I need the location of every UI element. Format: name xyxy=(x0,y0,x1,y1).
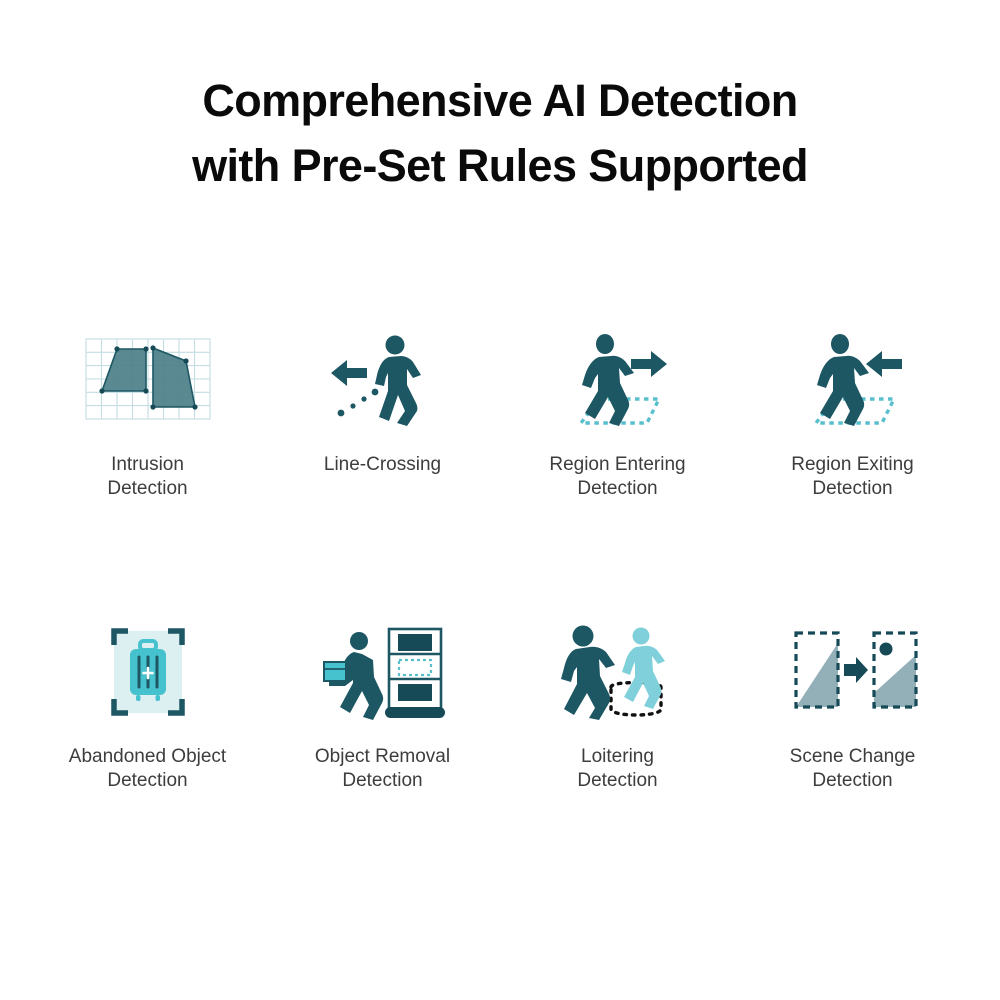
ghost-person-glyph xyxy=(622,627,665,709)
scene-after-frame xyxy=(874,633,916,707)
poster-root: Comprehensive AI Detection with Pre-Set … xyxy=(0,0,1000,1000)
feature-abandoned-object-detection: Abandoned Object Detection xyxy=(40,617,255,794)
arrow-right-glyph xyxy=(631,351,667,377)
new-object-dot xyxy=(879,642,892,655)
arrow-left-glyph xyxy=(866,351,902,377)
walking-person-glyph xyxy=(561,625,615,720)
line-crossing-walker-arrow-icon xyxy=(323,333,443,428)
feature-object-removal-detection: Object Removal Detection xyxy=(275,617,490,794)
person-carrying-box-glyph xyxy=(324,632,383,720)
feature-row-2: Abandoned Object Detection xyxy=(40,617,960,794)
arrow-right-glyph xyxy=(844,657,868,683)
arrow-left-glyph xyxy=(331,360,367,386)
feature-row-1: Intrusion Detection xyxy=(40,325,960,502)
shelf-rack-glyph xyxy=(385,629,445,718)
feature-label: Region Entering Detection xyxy=(549,453,685,502)
icon-container xyxy=(275,325,490,435)
shelf-box-top xyxy=(398,634,432,651)
feature-scene-change-detection: Scene Change Detection xyxy=(745,617,960,794)
feature-intrusion-detection: Intrusion Detection xyxy=(40,325,255,502)
feature-region-entering-detection: Region Entering Detection xyxy=(510,325,725,502)
title-line-1: Comprehensive AI Detection xyxy=(0,68,1000,133)
intrusion-grid-polygons-icon xyxy=(83,333,213,428)
shelf-box-bottom xyxy=(398,684,432,701)
feature-label: Region Exiting Detection xyxy=(791,453,914,502)
page-title: Comprehensive AI Detection with Pre-Set … xyxy=(0,68,1000,199)
feature-loitering-detection: Loitering Detection xyxy=(510,617,725,794)
feature-label: Scene Change Detection xyxy=(790,745,916,794)
removed-item-outline xyxy=(399,660,431,675)
feature-label: Object Removal Detection xyxy=(315,745,450,794)
scene-before-frame xyxy=(796,633,838,707)
object-removal-shelf-icon xyxy=(315,623,450,721)
loitering-two-figures-icon xyxy=(555,623,680,721)
suitcase-glyph xyxy=(130,641,166,701)
running-person-glyph xyxy=(582,334,634,426)
shelf-base xyxy=(385,707,445,718)
feature-label: Line-Crossing xyxy=(324,453,441,477)
icon-container xyxy=(745,325,960,435)
feature-label: Intrusion Detection xyxy=(107,453,187,502)
icon-container xyxy=(275,617,490,727)
feature-label: Loitering Detection xyxy=(577,745,657,794)
icon-container xyxy=(40,325,255,435)
carried-box xyxy=(324,662,346,681)
region-exiting-runner-icon xyxy=(790,333,915,428)
running-person-glyph xyxy=(817,334,869,426)
region-entering-runner-icon xyxy=(555,333,680,428)
title-line-2: with Pre-Set Rules Supported xyxy=(0,133,1000,198)
feature-grid: Intrusion Detection xyxy=(40,325,960,793)
icon-container xyxy=(510,325,725,435)
feature-label: Abandoned Object Detection xyxy=(69,745,226,794)
icon-container xyxy=(510,617,725,727)
scene-change-frames-icon xyxy=(788,623,918,721)
icon-container xyxy=(40,617,255,727)
walking-person-glyph xyxy=(375,335,421,426)
feature-region-exiting-detection: Region Exiting Detection xyxy=(745,325,960,502)
trajectory-dots xyxy=(337,388,378,416)
icon-container xyxy=(745,617,960,727)
abandoned-suitcase-brackets-icon xyxy=(98,623,198,721)
feature-line-crossing: Line-Crossing xyxy=(275,325,490,477)
